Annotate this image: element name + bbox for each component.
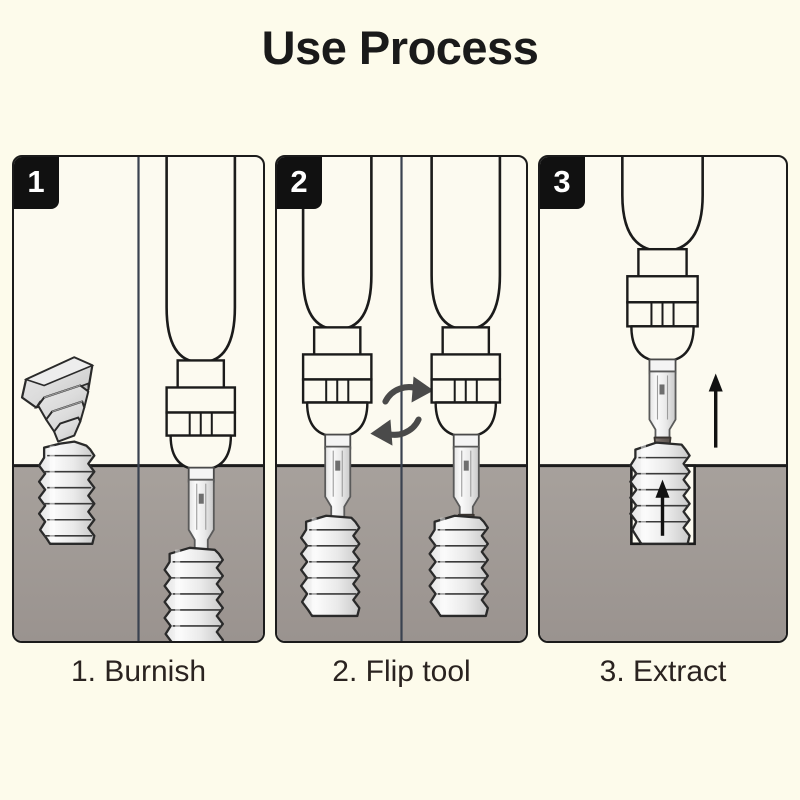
broken-screw-head (22, 357, 92, 441)
caption-step-3: 3. Extract (538, 655, 788, 689)
stripped-screw-left (39, 442, 94, 544)
step-1-illustration (14, 157, 263, 641)
process-step-panel-3: 3 (538, 155, 788, 643)
step-badge-1: 1 (13, 156, 59, 209)
caption-row: 1. Burnish 2. Flip tool 3. Extract (12, 655, 788, 705)
process-panels: 1 (12, 155, 788, 643)
stripped-screw-right (165, 548, 223, 641)
process-step-panel-1: 1 (12, 155, 265, 643)
step-3-illustration (540, 157, 786, 641)
up-arrow-outside (709, 373, 723, 447)
caption-step-1: 1. Burnish (12, 655, 265, 689)
process-step-panel-2: 2 (275, 155, 528, 643)
step-2-illustration (277, 157, 526, 641)
stripped-screw-left-2 (301, 516, 359, 616)
stripped-screw-right-2 (430, 516, 488, 616)
drill-tool-3 (622, 157, 702, 469)
caption-step-2: 2. Flip tool (275, 655, 528, 689)
page-title: Use Process (0, 20, 800, 75)
step-badge-3: 3 (539, 156, 585, 209)
step-badge-2: 2 (276, 156, 322, 209)
